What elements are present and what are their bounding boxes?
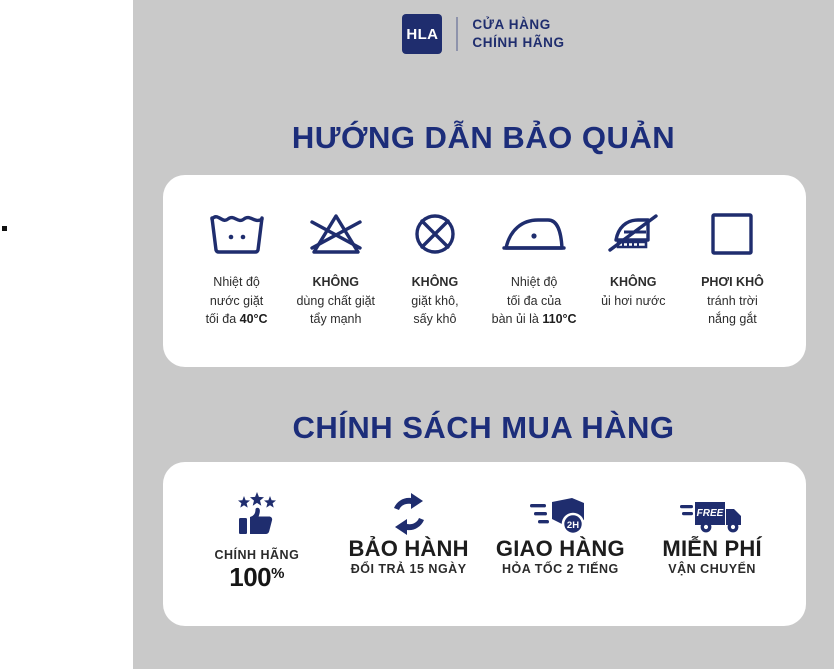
care-caption-no-steam-l2: ủi hơi nước (601, 292, 665, 311)
policy-item-free-ship: FREE MIỄN PHÍ VẬN CHUYỂN (637, 490, 787, 576)
care-caption-line-dry-l2: tránh trời (701, 292, 764, 311)
policy-free-ship-main: MIỄN PHÍ (662, 536, 761, 561)
policy-warranty-sub: ĐỔI TRẢ 15 NGÀY (351, 562, 467, 576)
care-item-iron: Nhiệt độ tối đa của bàn ủi là 110°C (485, 207, 584, 329)
policy-authentic-number: 100 (229, 562, 271, 593)
margin-dot-marker (2, 226, 7, 231)
policy-warranty-main: BẢO HÀNH (349, 536, 469, 561)
free-badge-text: FREE (697, 508, 724, 519)
delivery-hours-badge-text: 2H (567, 520, 579, 531)
care-caption-no-dry-clean-l1: KHÔNG (411, 273, 458, 292)
no-dry-clean-icon (404, 207, 466, 259)
care-caption-no-steam: KHÔNG ủi hơi nước (601, 273, 665, 310)
free-truck-icon: FREE (679, 490, 745, 536)
care-caption-no-bleach-l1: KHÔNG (296, 273, 375, 292)
brand-tagline: CỬA HÀNG CHÍNH HÃNG (472, 16, 564, 52)
thumbs-up-stars-icon (228, 490, 286, 536)
care-caption-wash-l3: tối đa 40°C (206, 310, 268, 329)
care-item-no-dry-clean: KHÔNG giặt khô, sấy khô (385, 207, 484, 329)
hla-logo-badge: HLA (402, 14, 442, 54)
care-section-title: HƯỚNG DẪN BẢO QUẢN (133, 120, 834, 156)
purchase-policy-card: CHÍNH HÃNG 100 % (163, 462, 806, 626)
policy-authentic-value: 100 % (229, 562, 284, 593)
no-steam-iron-icon (602, 207, 664, 259)
content-panel: HLA CỬA HÀNG CHÍNH HÃNG HƯỚNG DẪN BẢO QU… (133, 0, 834, 669)
care-caption-no-steam-l1: KHÔNG (601, 273, 665, 292)
care-caption-iron-l3: bàn ủi là 110°C (492, 310, 577, 329)
care-caption-iron-l2: tối đa của (492, 292, 577, 311)
care-caption-no-dry-clean-l3: sấy khô (411, 310, 458, 329)
care-caption-wash-l2: nước giặt (206, 292, 268, 311)
care-item-line-dry: PHƠI KHÔ tránh trời nắng gắt (683, 207, 782, 329)
policy-authentic-top: CHÍNH HÃNG (214, 548, 299, 562)
policy-free-ship-sub: VẬN CHUYỂN (668, 562, 756, 576)
brand-divider (456, 17, 458, 51)
brand-tagline-line2: CHÍNH HÃNG (472, 34, 564, 52)
policy-item-delivery: 2H GIAO HÀNG HỎA TỐC 2 TIẾNG (485, 490, 635, 576)
line-dry-square-icon (701, 207, 763, 259)
care-caption-iron-l1: Nhiệt độ (492, 273, 577, 292)
brand-tagline-line1: CỬA HÀNG (472, 16, 564, 34)
care-item-no-bleach: KHÔNG dùng chất giặt tẩy mạnh (286, 207, 385, 329)
care-icon-grid: Nhiệt độ nước giặt tối đa 40°C (163, 175, 806, 367)
care-caption-no-bleach-l2: dùng chất giặt (296, 292, 375, 311)
iron-110-icon (500, 207, 568, 259)
care-instructions-card: Nhiệt độ nước giặt tối đa 40°C (163, 175, 806, 367)
care-item-no-steam: KHÔNG ủi hơi nước (584, 207, 683, 310)
policy-delivery-main: GIAO HÀNG (496, 536, 625, 561)
care-caption-wash: Nhiệt độ nước giặt tối đa 40°C (206, 273, 268, 329)
care-item-wash: Nhiệt độ nước giặt tối đa 40°C (187, 207, 286, 329)
refresh-arrows-icon (384, 490, 434, 536)
care-caption-no-bleach: KHÔNG dùng chất giặt tẩy mạnh (296, 273, 375, 329)
policy-authentic-percent: % (271, 565, 284, 582)
care-caption-no-bleach-l3: tẩy mạnh (296, 310, 375, 329)
care-caption-line-dry: PHƠI KHÔ tránh trời nắng gắt (701, 273, 764, 329)
policy-delivery-sub: HỎA TỐC 2 TIẾNG (502, 562, 619, 576)
care-caption-line-dry-l3: nắng gắt (701, 310, 764, 329)
page-root: HLA CỬA HÀNG CHÍNH HÃNG HƯỚNG DẪN BẢO QU… (0, 0, 834, 669)
policy-icon-grid: CHÍNH HÃNG 100 % (163, 462, 806, 626)
policy-item-warranty: BẢO HÀNH ĐỔI TRẢ 15 NGÀY (334, 490, 484, 576)
care-caption-no-dry-clean: KHÔNG giặt khô, sấy khô (411, 273, 458, 329)
policy-item-authentic: CHÍNH HÃNG 100 % (182, 490, 332, 593)
hla-logo-text: HLA (406, 26, 438, 43)
brand-header: HLA CỬA HÀNG CHÍNH HÃNG (133, 14, 834, 54)
care-caption-line-dry-l1: PHƠI KHÔ (701, 273, 764, 292)
policy-section-title: CHÍNH SÁCH MUA HÀNG (133, 410, 834, 446)
care-caption-wash-l1: Nhiệt độ (206, 273, 268, 292)
care-caption-iron: Nhiệt độ tối đa của bàn ủi là 110°C (492, 273, 577, 329)
wash-tub-40-icon (206, 207, 268, 259)
fast-box-2h-icon: 2H (528, 490, 592, 536)
care-caption-no-dry-clean-l2: giặt khô, (411, 292, 458, 311)
left-white-margin (0, 0, 133, 669)
no-bleach-icon (305, 207, 367, 259)
